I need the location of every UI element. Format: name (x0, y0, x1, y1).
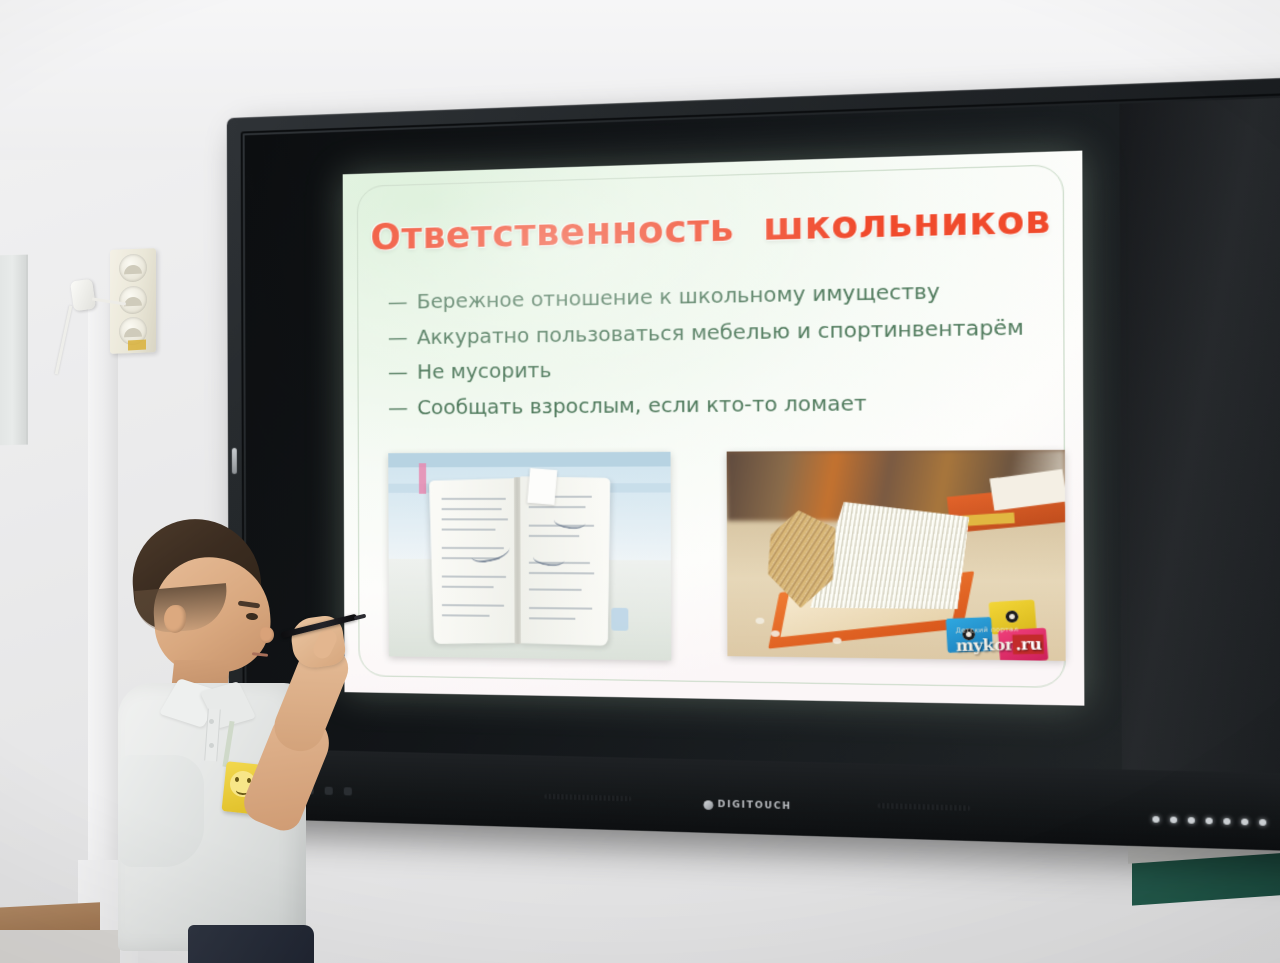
schoolboy (110, 505, 410, 963)
list-item-label: Не мусорить (417, 361, 551, 383)
led-indicator (1259, 819, 1266, 826)
wall-panel-left (0, 255, 28, 446)
watermark-domain: .ru (1013, 634, 1044, 654)
cable-tag (128, 340, 146, 351)
photo-watermark-subtitle: Детский портал (956, 626, 1019, 635)
list-item: — Сообщать взрослым, если кто-то ломает (388, 391, 1049, 418)
photo-watermark: mykor.ru (955, 634, 1044, 655)
bullet-dash-icon: — (388, 292, 408, 312)
speaker-grill (544, 794, 631, 802)
led-indicator (1170, 817, 1177, 824)
led-indicator (1152, 816, 1159, 823)
photo-sticky-note (527, 468, 557, 505)
slide-photo-damaged-book: Детский портал mykor.ru (727, 450, 1066, 661)
presentation-slide[interactable]: Ответственность школьников — Бережное от… (343, 151, 1085, 706)
list-item-label: Бережное отношение к школьному имуществу (417, 281, 940, 312)
trousers (188, 925, 314, 963)
power-socket-icon (119, 286, 147, 315)
photo-book-spine (514, 477, 521, 644)
list-item: — Не мусорить (388, 354, 1049, 383)
shirt-button (209, 743, 214, 748)
bullet-dash-icon: — (388, 327, 408, 347)
led-indicator (1241, 819, 1248, 826)
list-item-label: Сообщать взрослым, если кто-то ломает (417, 393, 866, 417)
photo-blue-object (611, 608, 628, 631)
photo-pink-object (419, 463, 426, 494)
bullet-dash-icon: — (388, 398, 408, 418)
bullet-dash-icon: — (388, 363, 408, 383)
led-indicator (1188, 817, 1195, 824)
list-item-label: Аккуратно пользоваться мебелью и спортин… (417, 317, 1024, 347)
brand-label: DIGITOUCH (718, 800, 792, 813)
slide-photo-row: Детский портал mykor.ru (388, 450, 1042, 666)
list-item: — Бережное отношение к школьному имущест… (388, 279, 1048, 312)
power-plug-icon (70, 279, 96, 312)
slide-photo-open-textbook (388, 452, 671, 661)
brand-logo: DIGITOUCH (704, 799, 792, 812)
shirt-sleeve (118, 755, 204, 867)
power-socket-icon (119, 254, 147, 283)
led-indicator (1206, 818, 1213, 825)
screen-unused-area (1119, 97, 1280, 773)
slide-bullet-list: — Бережное отношение к школьному имущест… (388, 279, 1049, 433)
floor-strip (0, 930, 120, 963)
speaker-grill (878, 803, 970, 811)
ear (164, 605, 186, 633)
photo-blind (388, 452, 670, 468)
bezel-side-nub (232, 448, 237, 474)
slide-title: Ответственность школьников (343, 198, 1083, 259)
list-item: — Аккуратно пользоваться мебелью и спорт… (388, 316, 1049, 347)
classroom-photo-scene: Ответственность школьников — Бережное от… (0, 0, 1280, 963)
shirt-button (209, 719, 214, 724)
brand-mark-icon (704, 800, 714, 810)
nose (260, 627, 274, 643)
display-led-indicators (1152, 816, 1266, 826)
watermark-name: mykor (955, 635, 1013, 655)
led-indicator (1223, 818, 1230, 825)
